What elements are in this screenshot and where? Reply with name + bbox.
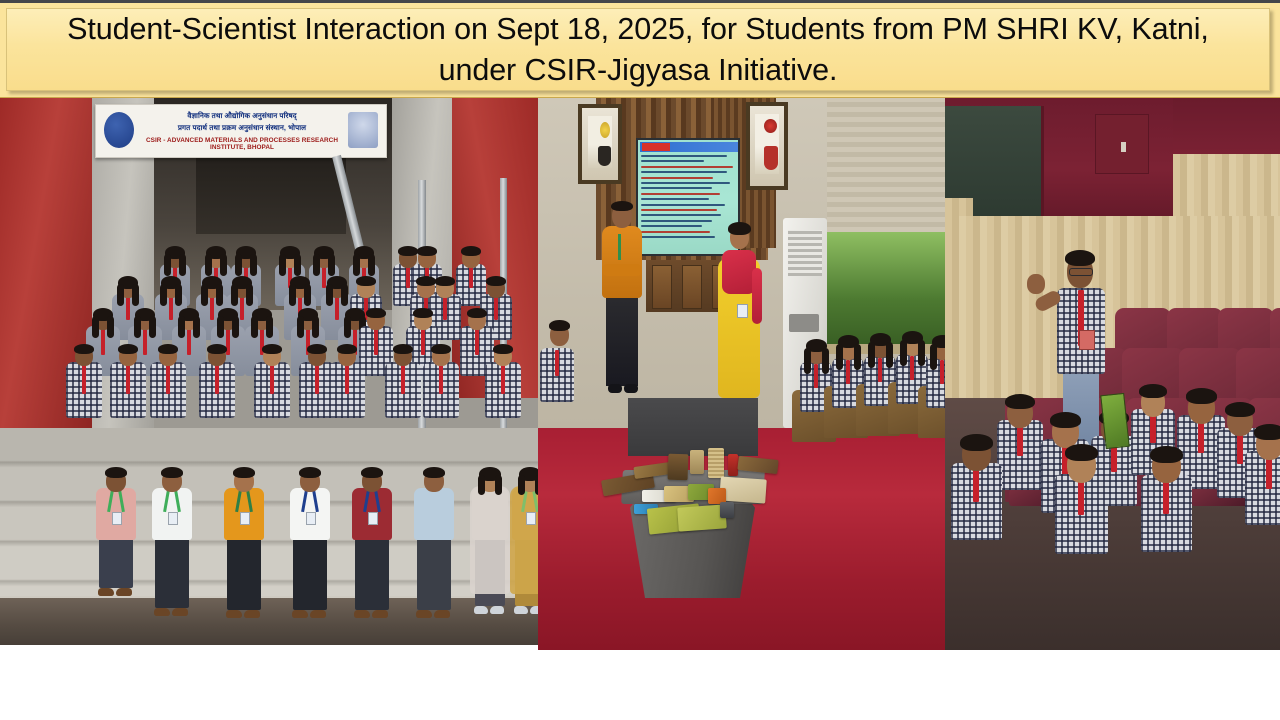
auditorium-maroon-wall-upper-right <box>1173 98 1280 154</box>
student-tie <box>270 363 274 394</box>
slide-text-line <box>641 182 730 184</box>
seated-student-tie <box>814 364 818 388</box>
seated-student-tie <box>940 360 944 384</box>
material-sample <box>720 502 734 518</box>
paved-ground <box>0 598 538 645</box>
student-hair <box>393 344 413 354</box>
slide-text-line <box>641 187 712 189</box>
seated-student-uniform <box>1245 451 1280 525</box>
student-hair <box>326 284 333 306</box>
red-vase-icon <box>764 146 778 170</box>
student-hair <box>356 276 376 286</box>
person-hair <box>105 467 127 478</box>
student-hair <box>231 284 238 306</box>
student-hair <box>220 254 227 276</box>
student-tie <box>322 265 326 288</box>
person-id-card <box>112 512 122 525</box>
signboard-english-line: CSIR - ADVANCED MATERIALS AND PROCESSES … <box>140 137 344 151</box>
student-hair <box>217 316 224 338</box>
speaker-hair <box>611 201 633 211</box>
person-kurta <box>470 486 510 594</box>
seated-student-hair <box>1225 402 1255 417</box>
material-sample <box>690 450 704 474</box>
slide-text-line <box>641 236 715 238</box>
person-shoe <box>154 608 170 616</box>
student-hair <box>158 344 178 354</box>
student-hair <box>134 316 141 338</box>
seated-student-tie <box>973 467 979 502</box>
student-tie <box>501 363 505 394</box>
student-hair <box>132 284 139 306</box>
student-hair <box>398 246 418 256</box>
seated-student-hair <box>1005 394 1035 409</box>
standing-student-id-card <box>1079 330 1095 350</box>
entrance-steps <box>0 428 538 608</box>
student-tie <box>443 295 447 320</box>
seated-student-hair <box>900 340 907 366</box>
slide-text-line <box>641 204 725 206</box>
red-flower-icon <box>764 119 777 133</box>
slide-text-line <box>641 220 712 222</box>
yellow-flower-icon <box>600 122 610 138</box>
right-photo-scene <box>945 98 1280 650</box>
student-hair <box>461 246 481 256</box>
student-tie <box>187 327 191 355</box>
student-hair <box>337 344 357 354</box>
student-tie <box>126 295 130 320</box>
wooden-floor-strip <box>628 398 758 456</box>
student-hair <box>486 276 506 286</box>
student-tie <box>210 295 214 320</box>
slide-title-badge <box>642 143 670 151</box>
student-tie <box>215 363 219 394</box>
seated-student-hair <box>960 434 993 451</box>
slide-text-line <box>641 198 709 200</box>
seated-student-tie <box>1017 424 1023 456</box>
student-hair <box>366 308 386 318</box>
person-shirt <box>414 488 454 540</box>
student-hair <box>262 344 282 354</box>
material-sample <box>668 454 689 481</box>
student-hair <box>266 316 273 338</box>
photo-strip: वैज्ञानिक तथा औद्योगिक अनुसंधान परिषद् प… <box>0 98 1280 650</box>
person-id-card <box>368 512 378 525</box>
seated-student-tie <box>1150 413 1156 443</box>
speaker-shirt-orange <box>602 226 642 298</box>
student-hair <box>289 284 296 306</box>
person-trousers <box>155 536 189 608</box>
csir-logo-icon <box>104 112 134 148</box>
seated-student-hair <box>930 344 937 370</box>
student-hair <box>435 276 455 286</box>
student-hair <box>307 344 327 354</box>
wall-picture-frame-left <box>578 104 622 184</box>
middle-photo-scene <box>538 98 945 650</box>
person-hair <box>423 467 445 478</box>
seated-student-hair <box>549 320 570 331</box>
slide-text-line <box>641 177 713 179</box>
seated-student-hair <box>918 340 925 366</box>
student-tie <box>315 363 319 394</box>
person-shoe <box>490 606 504 614</box>
student-hair <box>246 284 253 306</box>
seated-student-tie <box>1266 455 1272 489</box>
student-tie <box>240 295 244 320</box>
person-id-card <box>526 512 536 525</box>
person-trousers <box>355 536 389 610</box>
student-hair <box>353 254 360 276</box>
student-hair <box>175 284 182 306</box>
black-vase-icon <box>598 146 611 166</box>
student-tie <box>469 265 473 288</box>
person-hair <box>233 467 255 478</box>
student-hair <box>107 316 114 338</box>
picture-frame-left-art <box>588 116 612 168</box>
person-shoe <box>514 606 528 614</box>
seated-student-hair <box>854 344 861 370</box>
person-shoe <box>292 610 308 618</box>
person-hair <box>361 467 383 478</box>
student-hair <box>160 284 167 306</box>
seated-student-hair <box>804 348 811 374</box>
student-hair <box>232 316 239 338</box>
signboard-hindi-line-1: वैज्ञानिक तथा औद्योगिक अनुसंधान परिषद् <box>140 111 344 121</box>
presentation-slide-content <box>638 140 738 254</box>
seated-student-tie <box>846 360 850 384</box>
student-hair <box>493 344 513 354</box>
student-tie <box>335 295 339 320</box>
seated-student-hair <box>822 348 829 374</box>
student-tie <box>406 265 410 288</box>
student-hair <box>344 316 351 338</box>
student-hair <box>294 254 301 276</box>
person-trousers <box>227 536 261 610</box>
student-hair <box>279 254 286 276</box>
student-hair <box>74 344 94 354</box>
student-hair <box>417 246 437 256</box>
student-tie <box>401 363 405 394</box>
seated-student-hair <box>1065 444 1099 461</box>
student-hair <box>178 316 185 338</box>
signboard-hindi-line-2: प्रगत पदार्थ तथा प्रक्रम अनुसंधान संस्था… <box>140 123 344 133</box>
institute-signboard: वैज्ञानिक तथा औद्योगिक अनुसंधान परिषद् प… <box>95 104 387 158</box>
person-shoe <box>310 610 326 618</box>
student-hair <box>164 254 171 276</box>
student-hair <box>312 316 319 338</box>
title-banner-frame: Student-Scientist Interaction on Sept 18… <box>6 8 1270 91</box>
person-shoe <box>354 610 370 618</box>
seated-student-hair <box>1150 446 1183 463</box>
student-hair <box>250 254 257 276</box>
csir-ampri-logo-icon <box>348 112 378 148</box>
seated-student-hair <box>1050 412 1081 428</box>
presentation-display-screen <box>636 138 740 256</box>
person-shoe <box>434 610 450 618</box>
speaker-trousers <box>606 294 638 386</box>
student-hair <box>118 344 138 354</box>
seated-student-tie <box>1198 419 1204 453</box>
student-hair <box>117 284 124 306</box>
student-tie <box>439 363 443 394</box>
speaker-folded-arms <box>602 264 642 276</box>
slide-text-line <box>641 214 721 216</box>
award-plaque <box>652 265 672 309</box>
student-hair <box>92 316 99 338</box>
person-shoe <box>372 610 388 618</box>
person-id-card <box>240 512 250 525</box>
student-hair <box>235 254 242 276</box>
standing-student-raised-hand <box>1027 274 1045 294</box>
person-shoe <box>530 606 538 614</box>
student-hair <box>207 344 227 354</box>
person-shoe <box>474 606 488 614</box>
seated-student-hair <box>836 344 843 370</box>
seated-student-hair <box>868 342 875 368</box>
window-greenery-view <box>827 232 945 344</box>
page-title: Student-Scientist Interaction on Sept 18… <box>35 9 1241 90</box>
seated-student-hair <box>1254 424 1280 440</box>
person-shoe <box>98 588 114 596</box>
award-plaque <box>682 265 702 309</box>
person-shoe <box>244 610 260 618</box>
student-hair <box>304 284 311 306</box>
person-hair <box>299 467 321 478</box>
slide-bottom-whitespace <box>0 650 1280 720</box>
student-hair <box>149 316 156 338</box>
auditorium-wood-panelling-right <box>1173 154 1280 216</box>
slide-text-line <box>641 209 717 211</box>
speaker-lanyard <box>618 234 621 260</box>
person-shoe <box>116 588 132 596</box>
seated-student-hair <box>886 342 893 368</box>
material-sample <box>708 448 724 478</box>
speaker-shoe <box>624 384 638 393</box>
seated-student-hair <box>1186 388 1217 404</box>
photo-auditorium-student-question <box>945 98 1280 650</box>
person-hair <box>478 475 485 495</box>
person-shoe <box>226 610 242 618</box>
title-line-1: Student-Scientist Interaction on Sept 18… <box>67 12 1123 46</box>
student-hair <box>216 284 223 306</box>
speaker-id-card <box>737 304 748 318</box>
student-tie <box>166 363 170 394</box>
slide-title-banner: Student-Scientist Interaction on Sept 18… <box>0 0 1280 98</box>
person-hair <box>518 475 525 495</box>
ac-control-panel <box>789 314 819 332</box>
student-tie <box>345 363 349 394</box>
person-id-card <box>306 512 316 525</box>
student-tie <box>169 295 173 320</box>
left-photo-scene: वैज्ञानिक तथा औद्योगिक अनुसंधान परिषद् प… <box>0 98 538 645</box>
speaker-shoe <box>608 384 622 393</box>
speaker-hair <box>728 222 751 235</box>
student-hair <box>413 308 433 318</box>
slide-text-line <box>641 171 727 173</box>
student-tie <box>374 327 378 355</box>
student-hair <box>467 308 487 318</box>
student-hair <box>431 344 451 354</box>
student-tie <box>421 327 425 355</box>
slide-text-line <box>641 231 710 233</box>
person-hair <box>161 467 183 478</box>
seated-student-hair <box>1139 384 1168 398</box>
seated-student-tie <box>910 356 914 380</box>
student-tie <box>143 327 147 355</box>
presentation-slide: Student-Scientist Interaction on Sept 18… <box>0 0 1280 720</box>
seated-student-tie <box>878 358 882 382</box>
wall-picture-frame-right <box>746 102 788 190</box>
person-trousers <box>99 536 133 588</box>
student-tie <box>82 363 86 394</box>
student-tie <box>126 363 130 394</box>
window-blinds <box>827 98 945 232</box>
picture-frame-right-art <box>755 114 779 174</box>
person-hair <box>495 475 502 495</box>
seated-student-tie <box>1237 432 1243 464</box>
student-hair <box>179 254 186 276</box>
seated-student-tie <box>1163 479 1169 514</box>
eyeglasses-icon <box>1069 268 1093 276</box>
student-hair <box>328 254 335 276</box>
photo-group-institute-entrance: वैज्ञानिक तथा औद्योगिक अनुसंधान परिषद् प… <box>0 98 538 645</box>
slide-text-line <box>641 160 704 162</box>
student-hair <box>368 254 375 276</box>
material-sample <box>728 454 738 476</box>
student-hair <box>313 254 320 276</box>
person-trousers <box>417 536 451 610</box>
slide-text-line <box>641 193 720 195</box>
seated-student-tie <box>555 350 559 376</box>
panel-latch-icon <box>1121 142 1126 152</box>
student-hair <box>251 316 258 338</box>
person-trousers <box>293 536 327 610</box>
slide-text-lines <box>641 155 735 244</box>
person-id-card <box>168 512 178 525</box>
photo-seminar-room-presentation <box>538 98 945 650</box>
seated-student-tie <box>1078 478 1084 515</box>
student-hair <box>205 254 212 276</box>
speaker-red-dupatta <box>722 250 756 294</box>
student-tie <box>494 295 498 320</box>
slide-text-line <box>641 166 733 168</box>
slide-text-line <box>641 155 727 157</box>
student-hair <box>201 284 208 306</box>
student-tie <box>475 327 479 355</box>
student-hair <box>193 316 200 338</box>
student-hair <box>297 316 304 338</box>
student-hair <box>416 276 436 286</box>
person-shoe <box>416 610 432 618</box>
material-sample <box>719 476 767 503</box>
ac-vent-grill <box>788 230 822 276</box>
person-shoe <box>172 608 188 616</box>
student-hair <box>341 284 348 306</box>
student-tie <box>101 327 105 355</box>
slide-text-line <box>641 225 702 227</box>
standing-student-hair <box>1065 250 1095 266</box>
speaker-dupatta-drape <box>752 268 762 324</box>
